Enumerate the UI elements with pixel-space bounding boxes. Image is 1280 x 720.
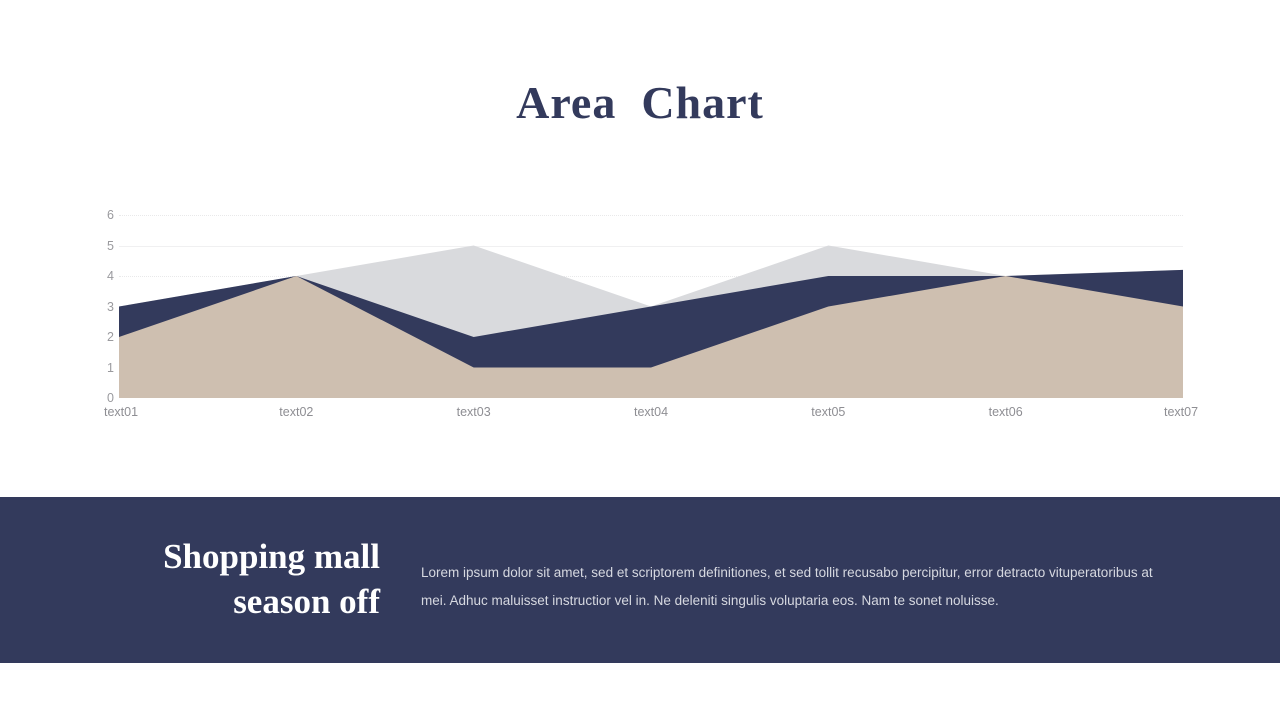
x-axis-tick-label: text02 bbox=[279, 405, 313, 419]
banner-heading: Shopping mall season off bbox=[90, 535, 380, 625]
y-axis-tick-label: 0 bbox=[107, 391, 114, 405]
x-axis-tick-label: text05 bbox=[811, 405, 845, 419]
area-chart: 0123456 text01text02text03text04text05te… bbox=[0, 195, 1280, 435]
x-axis-tick-label: text03 bbox=[457, 405, 491, 419]
banner-body-text: Lorem ipsum dolor sit amet, sed et scrip… bbox=[421, 559, 1173, 615]
x-axis: text01text02text03text04text05text06text… bbox=[0, 405, 1280, 429]
x-axis-tick-label: text04 bbox=[634, 405, 668, 419]
chart-series-group bbox=[119, 215, 1183, 398]
y-axis-tick-label: 1 bbox=[107, 361, 114, 375]
slide-canvas: Area Chart 0123456 text01text02text03tex… bbox=[0, 0, 1280, 720]
y-axis-tick-label: 6 bbox=[107, 208, 114, 222]
bottom-banner: Shopping mall season off Lorem ipsum dol… bbox=[0, 497, 1280, 663]
x-axis-tick-label: text07 bbox=[1164, 405, 1198, 419]
plot-area bbox=[119, 215, 1183, 398]
page-title: Area Chart bbox=[0, 76, 1280, 129]
y-axis: 0123456 bbox=[90, 195, 114, 393]
y-axis-tick-label: 2 bbox=[107, 330, 114, 344]
y-axis-tick-label: 3 bbox=[107, 300, 114, 314]
y-axis-tick-label: 5 bbox=[107, 239, 114, 253]
y-axis-tick-label: 4 bbox=[107, 269, 114, 283]
x-axis-tick-label: text06 bbox=[989, 405, 1023, 419]
x-axis-tick-label: text01 bbox=[104, 405, 138, 419]
